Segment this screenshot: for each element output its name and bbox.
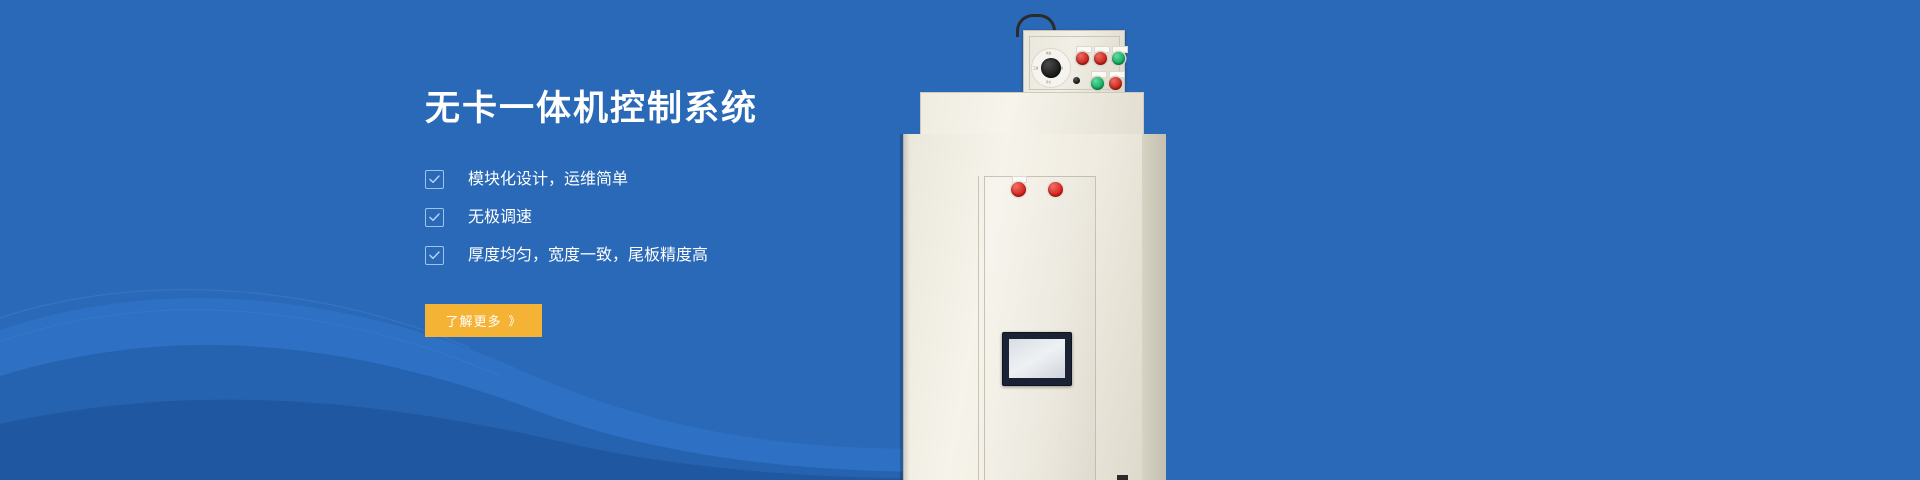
hmi-screen-surface[interactable] (1009, 339, 1065, 378)
feature-item-2: 无极调速 (425, 208, 985, 227)
knob-label-bottom: 停止 (1046, 80, 1051, 84)
feature-label: 模块化设计，运维简单 (468, 172, 628, 188)
push-button-6[interactable] (1109, 77, 1122, 90)
knob-label-left: 工进 (1033, 66, 1038, 70)
chevron-right-icon: 》 (509, 312, 522, 329)
feature-label: 厚度均匀，宽度一致，尾板精度高 (468, 248, 708, 264)
hmi-touchscreen[interactable] (1002, 332, 1072, 386)
knob-label-top: 快进 (1046, 51, 1051, 55)
rotary-selector-knob[interactable] (1041, 58, 1061, 78)
push-button-1[interactable] (1076, 52, 1089, 65)
learn-more-label: 了解更多 (445, 311, 501, 330)
check-square-icon (425, 170, 444, 189)
control-box: 快进 工进 快退 停止 (1023, 30, 1125, 94)
cabinet-door-panel (984, 176, 1096, 480)
cabinet-vent-slot (1117, 475, 1128, 480)
hero-content: 无卡一体机控制系统 模块化设计，运维简单 无极调速 (425, 88, 985, 337)
push-button-4[interactable] (1073, 77, 1080, 84)
page-title: 无卡一体机控制系统 (425, 88, 985, 130)
feature-item-3: 厚度均匀，宽度一致，尾板精度高 (425, 246, 985, 265)
hero-banner: 无卡一体机控制系统 模块化设计，运维简单 无极调速 (0, 0, 1920, 480)
indicator-light-1[interactable] (1011, 182, 1026, 197)
push-button-3[interactable] (1112, 52, 1125, 65)
feature-label: 无极调速 (468, 210, 532, 226)
feature-list: 模块化设计，运维简单 无极调速 厚度均匀，宽度一致，尾板精度高 (425, 170, 985, 265)
push-button-5[interactable] (1091, 77, 1104, 90)
check-square-icon (425, 246, 444, 265)
indicator-light-2[interactable] (1048, 182, 1063, 197)
learn-more-button[interactable]: 了解更多 》 (425, 304, 542, 337)
cabinet-right-edge (1142, 134, 1166, 480)
push-button-2[interactable] (1094, 52, 1107, 65)
check-square-icon (425, 208, 444, 227)
feature-item-1: 模块化设计，运维简单 (425, 170, 985, 189)
rotary-selector-plate: 快进 工进 快退 停止 (1031, 48, 1071, 88)
